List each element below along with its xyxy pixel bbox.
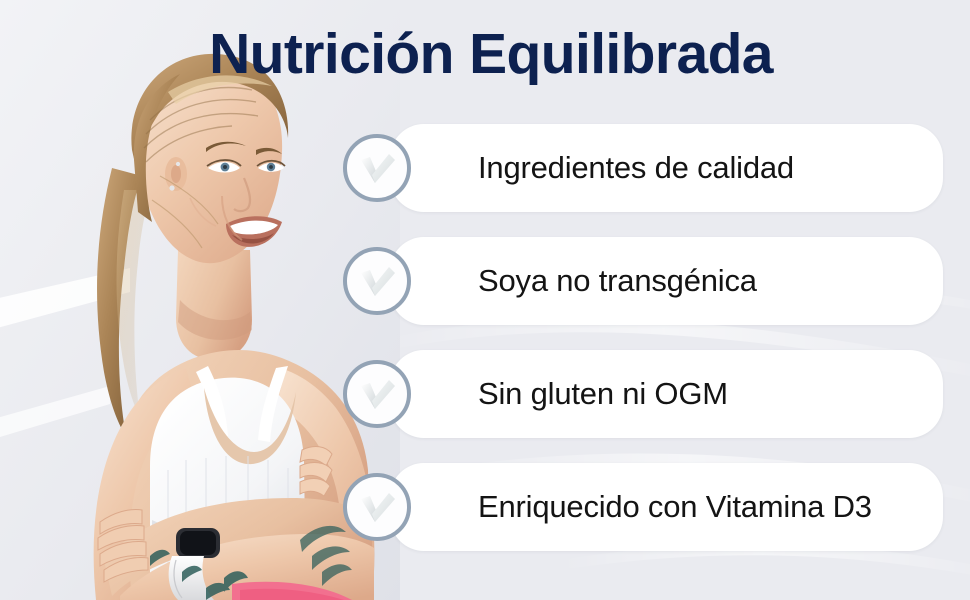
feature-pill: Enriquecido con Vitamina D3 — [390, 463, 943, 551]
check-circle-icon — [342, 472, 412, 542]
feature-label: Sin gluten ni OGM — [478, 376, 728, 412]
page-title: Nutrición Equilibrada — [160, 22, 822, 86]
feature-label: Ingredientes de calidad — [478, 150, 794, 186]
feature-pill: Sin gluten ni OGM — [390, 350, 943, 438]
check-circle-icon — [342, 246, 412, 316]
feature-item: Ingredientes de calidad — [340, 124, 950, 212]
feature-item: Soya no transgénica — [340, 237, 950, 325]
feature-pill: Ingredientes de calidad — [390, 124, 943, 212]
feature-item: Sin gluten ni OGM — [340, 350, 950, 438]
feature-label: Enriquecido con Vitamina D3 — [478, 489, 872, 525]
feature-pill: Soya no transgénica — [390, 237, 943, 325]
feature-list: Ingredientes de calidad — [340, 124, 950, 551]
banner-canvas: Nutrición Equilibrada Ingredientes de ca… — [0, 0, 970, 600]
feature-label: Soya no transgénica — [478, 263, 757, 299]
feature-item: Enriquecido con Vitamina D3 — [340, 463, 950, 551]
check-circle-icon — [342, 359, 412, 429]
check-circle-icon — [342, 133, 412, 203]
